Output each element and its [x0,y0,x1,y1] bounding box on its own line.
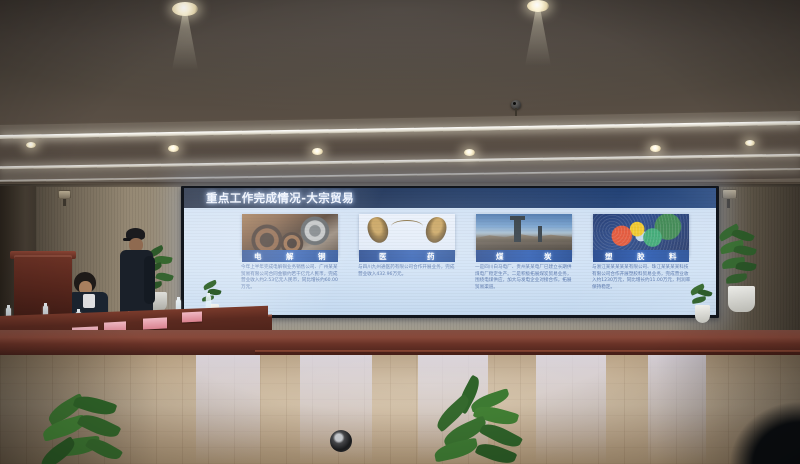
plant-pot [695,305,710,323]
plastic-label-char-2: 胶 [637,251,645,262]
copper-label-char-3: 铜 [318,251,326,262]
slide-card-coal[interactable]: 煤 炭 一是四川白马电厂、贵州某某电厂已建立长期供煤电厂稳定生产。二是积极拓展煤… [466,212,583,312]
ceiling-spotlight [745,140,755,146]
wall-speaker [58,190,71,199]
led-video-wall[interactable]: 重点工作完成情况-大宗贸易 电 解 铜 今年上半年完成电解铜业务销售公司、广州某… [184,188,716,315]
slide-card-plastic[interactable]: 塑 胶 料 与浙江某某某某某有限公司、珠江某某某某科技有限公司合作开展塑胶料贸易… [583,212,700,312]
plastic-label: 塑 胶 料 [593,250,689,262]
coal-body-text: 一是四川白马电厂、贵州某某电厂已建立长期供煤电厂稳定生产。二是积极拓展煤炭贸易业… [475,265,575,291]
ceiling-spotlight [650,145,661,152]
ceiling-spotlight [464,149,475,156]
coal-label: 煤 炭 [476,250,572,262]
coal-label-char-1: 煤 [496,251,504,262]
plastic-body-text: 与浙江某某某某某有限公司、珠江某某某某科技有限公司合作开展塑胶料贸易业务，完成营… [592,265,692,291]
plastic-label-char-1: 塑 [605,251,613,262]
wall-speaker [722,189,737,199]
ceiling-spotlight [168,145,179,152]
coal-label-char-2: 炭 [544,251,552,262]
plant-pot [728,286,755,312]
slide-card-row: 电 解 铜 今年上半年完成电解铜业务销售公司、广州某某贸易有限公司合同金额约若干… [184,208,716,315]
ceiling-spotlight [26,142,36,148]
pharma-body-text: 与四川九州通医药有限公司合作开展业务，完成营业收入432.96万元。 [358,265,458,278]
foreground-shadow [714,390,800,464]
camera-mount [515,108,517,116]
conference-room-photo: 重点工作完成情况-大宗贸易 电 解 铜 今年上半年完成电解铜业务销售公司、广州某… [0,0,800,464]
copper-label-char-1: 电 [254,251,262,262]
pharma-label-char-2: 药 [427,251,435,262]
ceiling-spotlight [312,148,323,155]
copper-label-char-2: 解 [286,251,294,262]
floor-object-cluster [330,430,352,452]
plastic-label-char-3: 料 [669,251,677,262]
copper-body-text: 今年上半年完成电解铜业务销售公司、广州某某贸易有限公司合同金额约若干亿元人民币，… [241,265,341,291]
floor-shading [0,355,800,464]
pharma-label-char-1: 医 [379,251,387,262]
person-arm [144,256,155,304]
name-card [143,317,167,329]
slide-card-copper[interactable]: 电 解 铜 今年上半年完成电解铜业务销售公司、广州某某贸易有限公司合同金额约若干… [232,212,349,312]
stage-highlight [0,330,800,344]
slide-card-pharma[interactable]: 医 药 与四川九州通医药有限公司合作开展业务，完成营业收入432.96万元。 [349,212,466,312]
name-card [182,311,202,322]
slide-title: 重点工作完成情况-大宗贸易 [206,190,354,206]
copper-label: 电 解 铜 [242,250,338,262]
pharma-label: 医 药 [359,250,455,262]
person-collar [83,294,95,308]
